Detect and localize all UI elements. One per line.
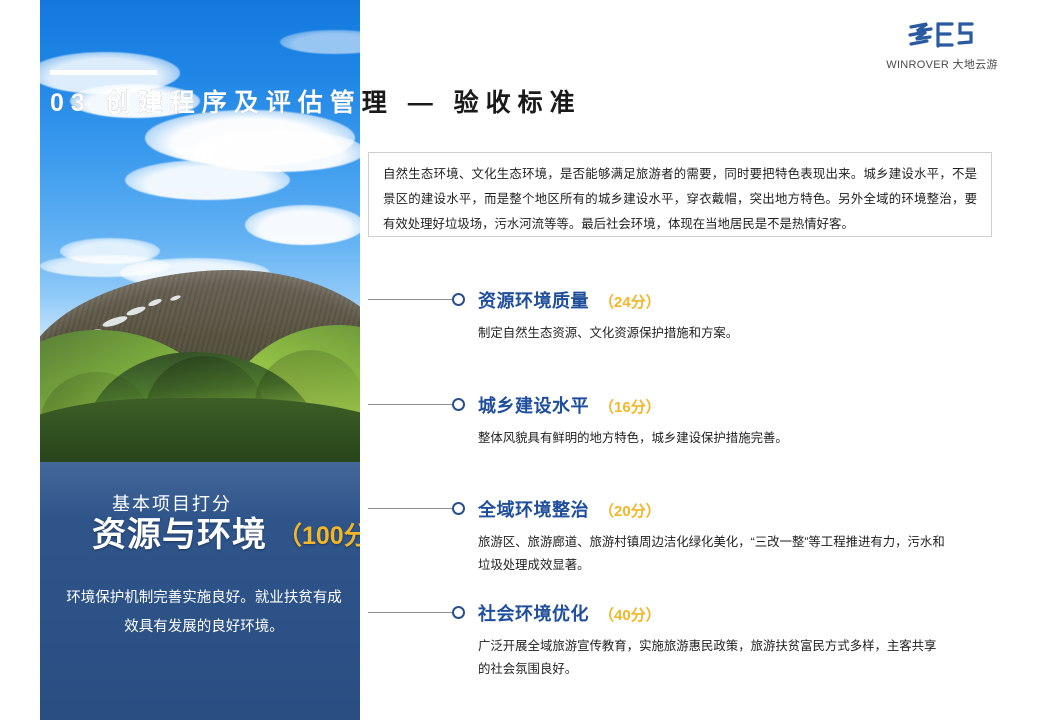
connector-line [368, 508, 452, 509]
bullet-ring-icon [452, 606, 465, 619]
connector-line [368, 404, 452, 405]
criterion-name: 资源环境质量 [478, 287, 589, 313]
criterion-score: （20分） [599, 500, 661, 521]
bullet-ring-icon [452, 398, 465, 411]
criterion-score: （40分） [599, 604, 661, 625]
cloud [60, 238, 160, 264]
criterion-name: 社会环境优化 [478, 600, 589, 626]
criterion-item[interactable]: 社会环境优化 （40分） 广泛开展全域旅游宣传教育，实施旅游惠民政策，旅游扶贫富… [478, 600, 948, 681]
summary-card-description: 环境保护机制完善实施良好。就业扶贫有成效具有发展的良好环境。 [66, 584, 342, 642]
cloud [245, 205, 360, 245]
criterion-item[interactable]: 资源环境质量 （24分） 制定自然生态资源、文化资源保护措施和方案。 [478, 287, 948, 345]
criterion-description: 制定自然生态资源、文化资源保护措施和方案。 [478, 322, 948, 345]
criterion-heading: 全域环境整治 （20分） [478, 496, 948, 522]
criterion-heading: 城乡建设水平 （16分） [478, 392, 948, 418]
intro-paragraph: 自然生态环境、文化生态环境，是否能够满足旅游者的需要，同时要把特色表现出来。城乡… [383, 162, 977, 236]
summary-card-eyebrow: 基本项目打分 [112, 490, 232, 516]
page-title-overlay-text: 03 创建程序及评估管理 — 验收标准 [50, 89, 360, 117]
green-hill-foreground [40, 398, 360, 462]
bullet-ring-icon [452, 502, 465, 515]
summary-card-title-row: 资源与环境 （100分） [92, 518, 360, 552]
summary-card: 基本项目打分 资源与环境 （100分） 环境保护机制完善实施良好。就业扶贫有成效… [40, 462, 360, 720]
bullet-ring-icon [452, 293, 465, 306]
criterion-heading: 社会环境优化 （40分） [478, 600, 948, 626]
criterion-heading: 资源环境质量 （24分） [478, 287, 948, 313]
criterion-description: 整体风貌具有鲜明的地方特色，城乡建设保护措施完善。 [478, 427, 948, 450]
criterion-score: （24分） [599, 291, 661, 312]
criterion-name: 城乡建设水平 [478, 392, 589, 418]
connector-line [368, 612, 452, 613]
connector-line [368, 299, 452, 300]
winrover-logo-icon [905, 18, 979, 54]
criterion-item[interactable]: 全域环境整治 （20分） 旅游区、旅游廊道、旅游村镇周边洁化绿化美化，“三改一整… [478, 496, 948, 577]
criterion-description: 广泛开展全域旅游宣传教育，实施旅游惠民政策，旅游扶贫富民方式多样，主客共享的社会… [478, 635, 948, 681]
title-underline-rule [50, 70, 157, 75]
page-title-overlay: 03 创建程序及评估管理 — 验收标准 [50, 86, 360, 120]
intro-textbox: 自然生态环境、文化生态环境，是否能够满足旅游者的需要，同时要把特色表现出来。城乡… [368, 152, 992, 237]
summary-card-title: 资源与环境 [92, 518, 267, 552]
criterion-name: 全域环境整治 [478, 496, 589, 522]
logo-wordmark: WINROVER 大地云游 [882, 56, 1002, 72]
criterion-score: （16分） [599, 396, 661, 417]
criterion-description: 旅游区、旅游廊道、旅游村镇周边洁化绿化美化，“三改一整”等工程推进有力，污水和垃… [478, 531, 948, 577]
brand-logo: WINROVER 大地云游 [882, 18, 1002, 72]
cloud-wisp [280, 30, 360, 54]
summary-card-score: （100分） [277, 524, 360, 549]
criterion-item[interactable]: 城乡建设水平 （16分） 整体风貌具有鲜明的地方特色，城乡建设保护措施完善。 [478, 392, 948, 450]
cloud [125, 160, 290, 200]
